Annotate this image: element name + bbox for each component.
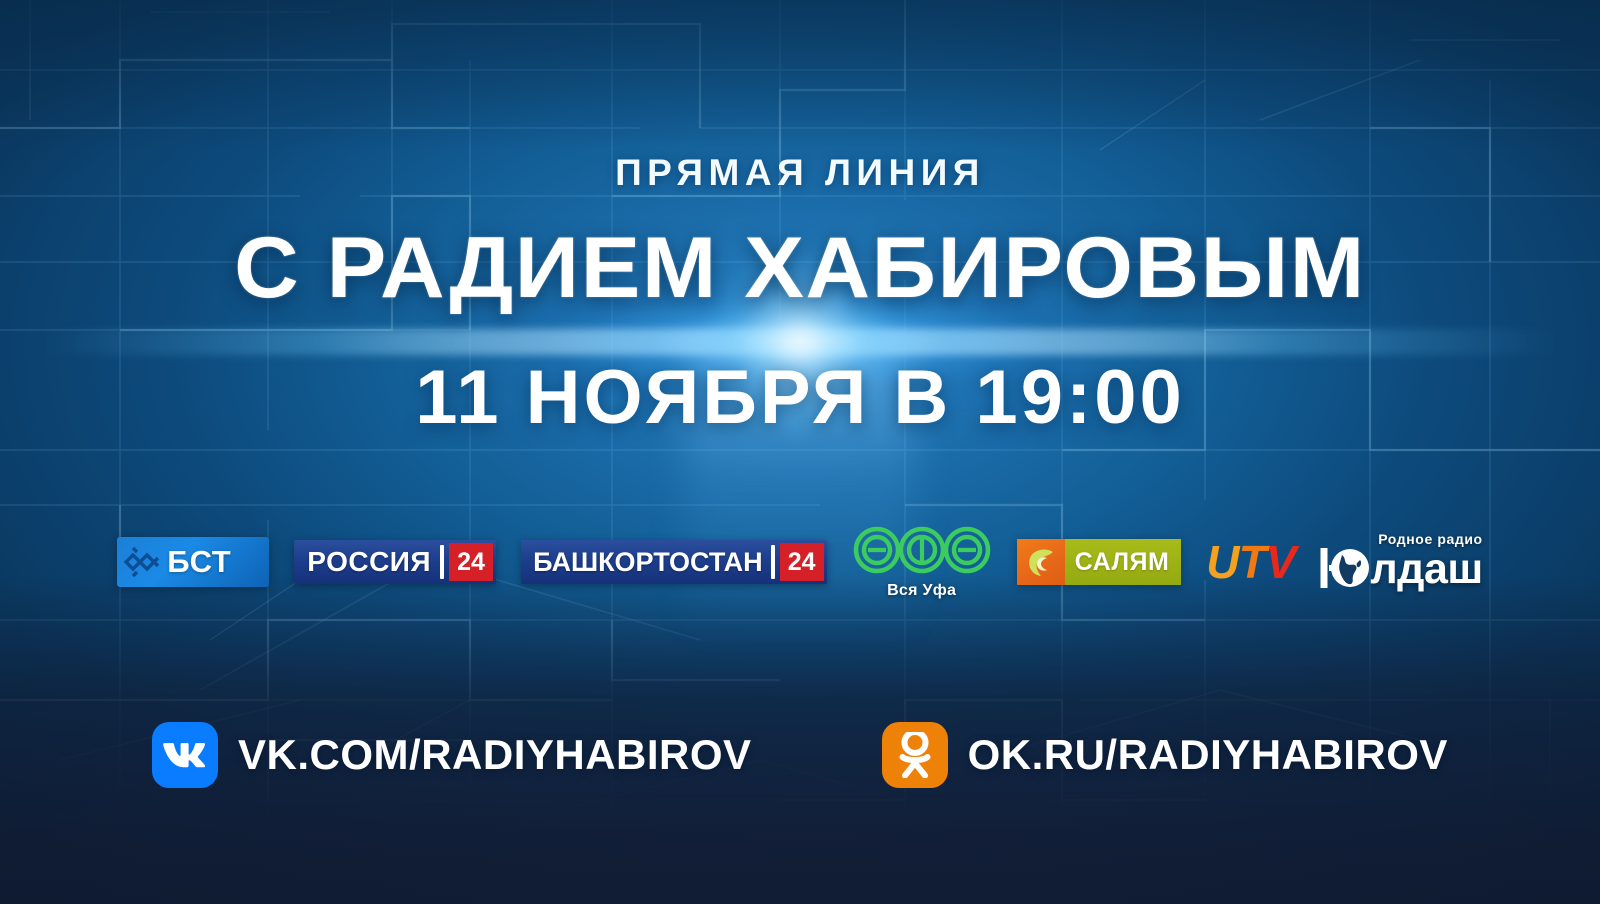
logo-utv-u: U xyxy=(1206,536,1238,588)
logo-bashkortostan-label: БАШКОРТОСТАН xyxy=(521,540,771,584)
yuldash-globe-icon xyxy=(1320,546,1370,590)
salyam-sun-icon xyxy=(1017,539,1065,585)
logo-bashkortostan-24: БАШКОРТОСТАН 24 xyxy=(521,540,827,584)
poster-kicker: ПРЯМАЯ ЛИНИЯ xyxy=(0,152,1600,194)
promo-poster: ПРЯМАЯ ЛИНИЯ С РАДИЕМ ХАБИРОВЫМ 11 НОЯБР… xyxy=(0,0,1600,904)
social-link-ok-label[interactable]: OK.RU/RADIYHABIROV xyxy=(968,731,1448,779)
social-link-ok[interactable]: OK.RU/RADIYHABIROV xyxy=(882,722,1448,788)
poster-dateline: 11 НОЯБРЯ В 19:00 xyxy=(0,354,1600,441)
social-links-row: VK.COM/RADIYHABIROV OK.RU/RADIYHABIROV xyxy=(0,722,1600,788)
logo-utv: UTV xyxy=(1206,539,1295,585)
logo-rossiya-24-badge: 24 xyxy=(449,543,493,581)
logo-bashkortostan-24-badge: 24 xyxy=(780,543,824,581)
logo-bst: БСТ xyxy=(117,537,269,587)
broadcaster-logo-strip: БСТ РОССИЯ 24 БАШКОРТОСТАН 24 xyxy=(0,524,1600,600)
social-link-vk[interactable]: VK.COM/RADIYHABIROV xyxy=(152,722,752,788)
bashkir-ornament-icon xyxy=(117,537,167,587)
logo-vsya-ufa: Вся Уфа xyxy=(852,524,992,600)
logo-bst-label: БСТ xyxy=(167,544,241,580)
logo-rossiya-label: РОССИЯ xyxy=(294,540,440,584)
logo-yuldash: Родное радио лдаш xyxy=(1320,534,1482,590)
poster-headline: С РАДИЕМ ХАБИРОВЫМ xyxy=(0,219,1600,318)
logo-yuldash-tagline: Родное радио xyxy=(1378,531,1483,547)
ufa-rings-icon xyxy=(852,524,992,576)
logo-rossiya-24: РОССИЯ 24 xyxy=(294,540,496,584)
ok-icon[interactable] xyxy=(882,722,948,788)
logo-utv-t: T xyxy=(1239,536,1266,588)
vk-icon[interactable] xyxy=(152,722,218,788)
logo-vsya-ufa-caption: Вся Уфа xyxy=(887,582,956,600)
logo-yuldash-label: лдаш xyxy=(1370,549,1482,590)
logo-salyam-label: САЛЯМ xyxy=(1065,539,1182,585)
social-link-vk-label[interactable]: VK.COM/RADIYHABIROV xyxy=(238,731,752,779)
logo-salyam: САЛЯМ xyxy=(1017,539,1182,585)
logo-divider xyxy=(771,545,775,579)
logo-divider xyxy=(440,545,444,579)
logo-utv-v: V xyxy=(1266,536,1296,588)
